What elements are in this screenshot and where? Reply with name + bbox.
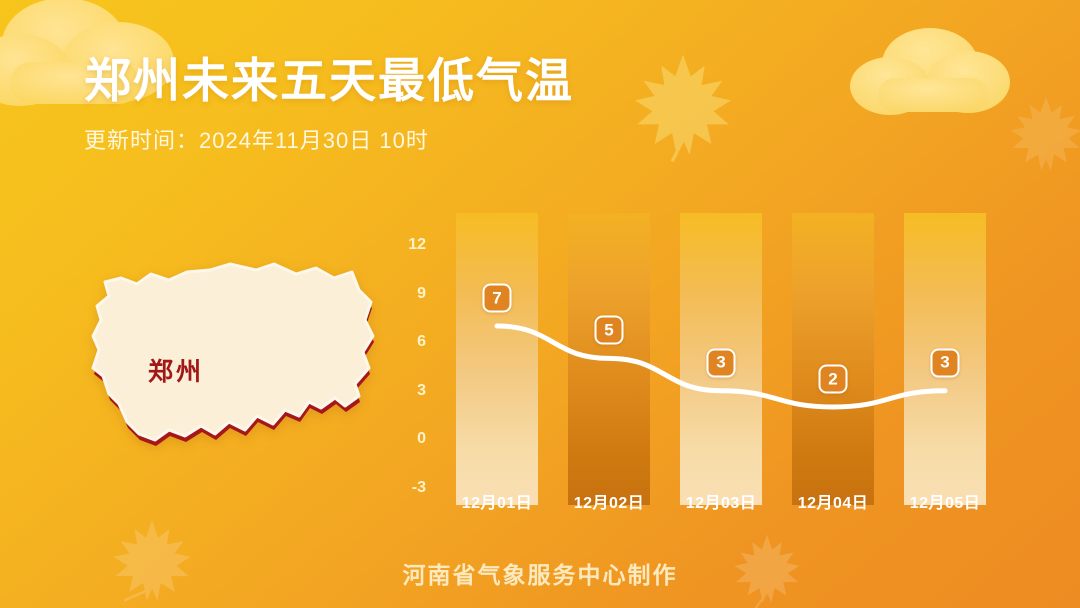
x-tick-label-2: 12月02日: [554, 489, 664, 513]
cloud-icon-top-right: [838, 14, 1038, 144]
y-tick-9: 9: [366, 285, 426, 303]
y-tick-label: 12: [366, 236, 426, 254]
y-tick-label: 3: [366, 382, 426, 400]
y-tick-3: 3: [366, 382, 426, 400]
update-time-text: 更新时间：2024年11月30日 10时: [84, 123, 574, 155]
header: 郑州未来五天最低气温 更新时间：2024年11月30日 10时: [84, 54, 574, 155]
point-label-3: 3: [707, 348, 736, 377]
page-title: 郑州未来五天最低气温: [84, 54, 574, 108]
henan-map: [60, 250, 410, 500]
point-label-1: 7: [483, 284, 512, 313]
x-tick-label-4: 12月04日: [778, 489, 888, 513]
y-tick-label: -3: [366, 479, 426, 497]
temperature-line: [424, 185, 1024, 505]
x-tick-label-3: 12月03日: [666, 489, 776, 513]
maple-leaf-icon-top: [628, 48, 738, 173]
y-tick-label: 6: [366, 333, 426, 351]
y-tick--3: -3: [366, 479, 426, 497]
point-label-2: 5: [595, 316, 624, 345]
y-tick-12: 12: [366, 236, 426, 254]
maple-leaf-icon-right-top: [1006, 92, 1080, 185]
point-label-4: 2: [819, 365, 848, 394]
footer-credit: 河南省气象服务中心制作: [0, 556, 1080, 590]
y-tick-label: 9: [366, 285, 426, 303]
temperature-chart: 129630-3 75323 12月01日12月02日12月03日12月04日1…: [424, 185, 1024, 505]
y-tick-0: 0: [366, 430, 426, 448]
y-tick-label: 0: [366, 430, 426, 448]
point-label-5: 3: [931, 348, 960, 377]
x-tick-label-5: 12月05日: [890, 489, 1000, 513]
map-city-label: 郑州: [148, 352, 204, 388]
y-tick-6: 6: [366, 333, 426, 351]
x-tick-label-1: 12月01日: [442, 489, 552, 513]
map-body: [93, 264, 373, 440]
